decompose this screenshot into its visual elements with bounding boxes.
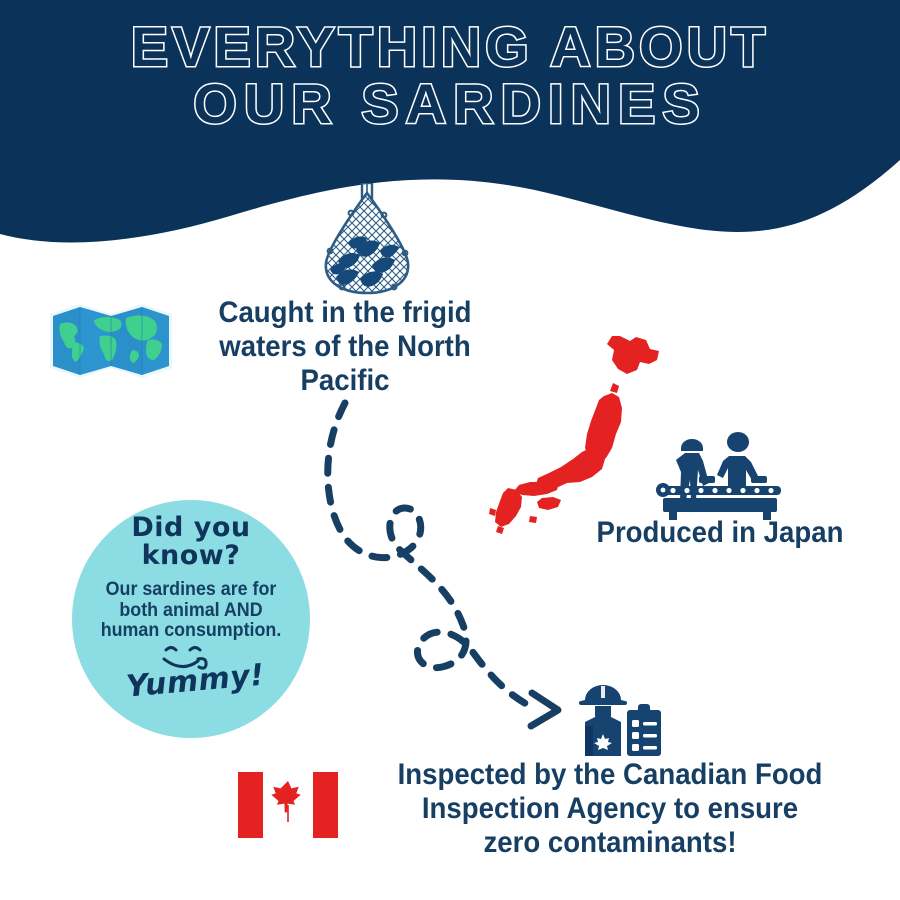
did-you-know-title: Did you know? bbox=[91, 514, 291, 570]
world-map-icon bbox=[48, 294, 174, 384]
did-you-know-bubble: Did you know? Our sardines are for both … bbox=[72, 500, 310, 738]
canada-flag-icon bbox=[238, 772, 338, 838]
yummy-label: Yummy! bbox=[125, 658, 258, 704]
inspected-caption: Inspected by the Canadian Food Inspectio… bbox=[394, 758, 826, 861]
header-band bbox=[0, 0, 900, 260]
factory-workers-icon bbox=[655, 430, 785, 520]
did-you-know-body: Our sardines are for both animal AND hum… bbox=[90, 580, 291, 642]
yummy-group: Yummy! bbox=[126, 648, 256, 708]
japan-map-icon bbox=[470, 330, 685, 545]
fishing-net-icon bbox=[308, 183, 426, 295]
infographic-canvas: EVERYTHING ABOUT OUR SARDINES bbox=[0, 0, 900, 900]
inspector-clipboard-icon bbox=[575, 678, 665, 760]
produced-caption: Produced in Japan bbox=[573, 516, 867, 550]
caught-caption: Caught in the frigid waters of the North… bbox=[198, 296, 492, 399]
